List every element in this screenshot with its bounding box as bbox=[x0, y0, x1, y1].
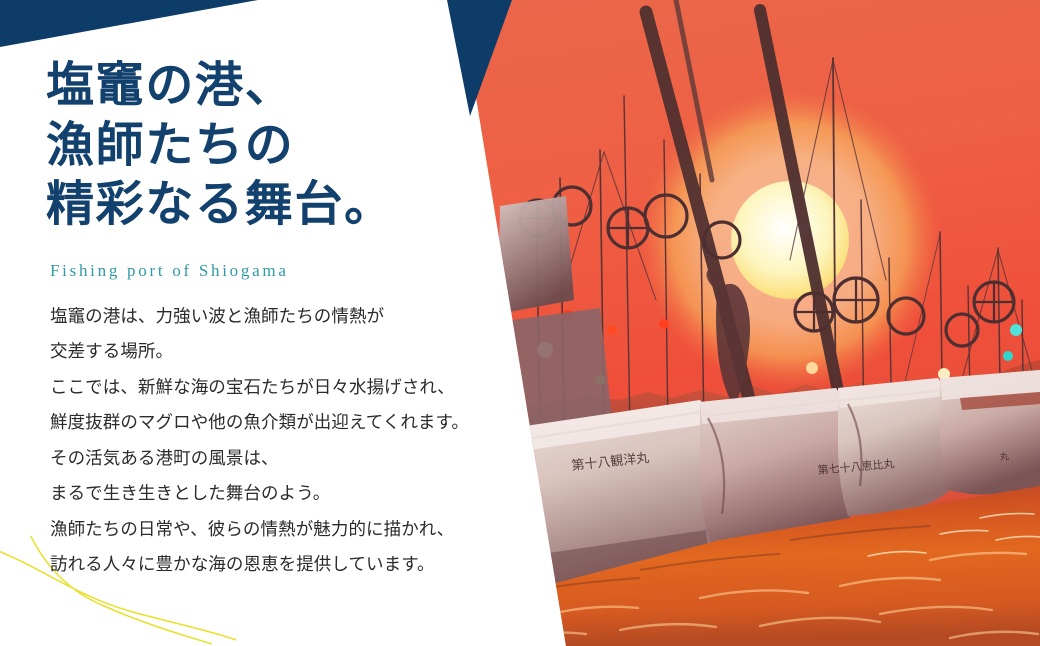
body-description: 塩竈の港は、力強い波と漁師たちの情熱が 交差する場所。 ここでは、新鮮な海の宝石… bbox=[50, 299, 546, 583]
page-title: 塩竈の港、 漁師たちの 精彩なる舞台。 bbox=[46, 56, 546, 235]
subtitle-english: Fishing port of Shiogama bbox=[50, 261, 546, 281]
boat-name-3: 丸 bbox=[999, 450, 1009, 463]
hero-text-block: 塩竈の港、 漁師たちの 精彩なる舞台。 Fishing port of Shio… bbox=[46, 56, 546, 583]
hero-banner: 第十八観洋丸 第七十八恵比丸 丸 bbox=[0, 0, 1040, 646]
